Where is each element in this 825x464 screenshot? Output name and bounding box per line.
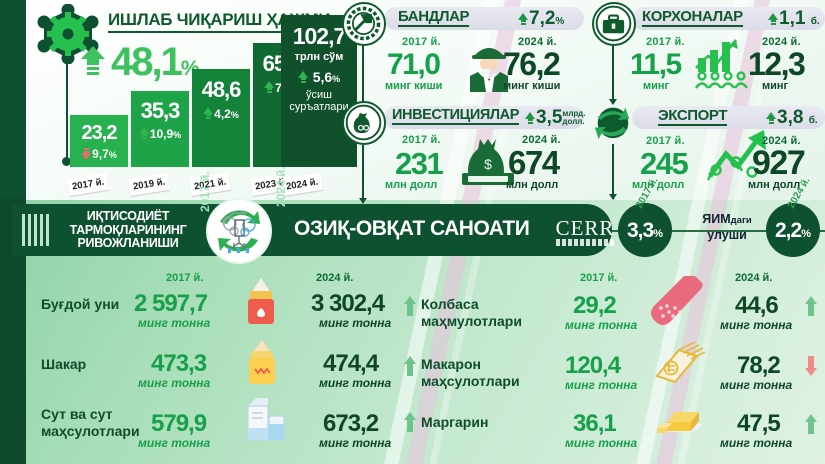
kpi-value-2017: 11,5 [630,48,681,82]
bar-2019: 35,3 10,9% [131,91,189,167]
banner-subtitle: ИҚТИСОДИЁТ ТАРМОҚЛАРИНИНГ РИВОЖЛАНИШИ [58,210,198,251]
money-bag-icon [342,101,386,145]
kpi-bandlar: БАНДЛАР 7,2% 2017 й. 71,0 минг киши 2024… [340,0,590,98]
arrow-up-icon [525,112,536,125]
pasta-pack-icon [649,336,707,393]
kpi-unit-2024: минг киши [503,80,560,92]
butter-icon [649,398,707,449]
cell-2024-value: 47,5 [737,410,780,438]
cell-2017-unit: минг тонна [138,436,210,450]
bar-year-2019: 2019 й. [128,173,170,196]
arrow-up-icon [768,13,779,26]
kpi-title: ИНВЕСТИЦИЯЛАР [392,107,519,125]
kpi-value-2024: 76,2 [503,46,559,83]
banner-year-right: 2024 й. [274,166,288,207]
bar-value: 48,6 [192,77,250,103]
cell-2017-value: 29,2 [573,292,616,320]
cell-2017-unit: минг тонна [138,376,210,390]
kpi-year-left: 2017 й. [402,134,441,146]
table-right: 2017 й. 2024 й. Колбаса маҳмулотлари 29,… [415,268,825,464]
section-banner: ИҚТИСОДИЁТ ТАРМОҚЛАРИНИНГ РИВОЖЛАНИШИ 20… [12,204,612,256]
cell-2017-unit: минг тонна [565,378,637,392]
cell-2017-unit: минг тонна [565,318,637,332]
kpi-title: БАНДЛАР [398,8,469,27]
col-header-2024: 2024 й. [735,272,772,284]
bar-growth: 4,2% [192,107,250,121]
connector-stem [612,46,614,104]
bar-year-2017: 2017 й. [67,173,109,196]
cell-2024-value: 3 302,4 [311,290,384,318]
trend-arrow-icon [805,414,817,439]
cell-2017-value: 36,1 [573,410,616,438]
kpi-korxonalar: КОРХОНАЛАР 1,1 б. 2017 й. 11,5 минг 2024… [590,0,825,98]
kpi-delta: 3,5млрд.долл. [525,107,585,129]
arrow-up-icon [298,71,309,84]
globe-arrows-icon [592,100,634,147]
milk-carton-icon [242,394,288,447]
cell-2017-value: 579,9 [151,410,206,438]
growth-number: 48,1 [111,40,181,84]
sausage-icon [647,276,707,333]
row-label: Шакар [41,356,151,373]
kpi-value-2017: 245 [640,146,687,182]
cell-2024-value: 44,6 [735,292,778,320]
growth-arrow-icon [81,46,105,76]
kpi-value-2024: 927 [752,144,804,183]
col-header-2017: 2017 й. [166,272,203,284]
bar-growth: 10,9% [131,127,189,141]
kpi-unit-2024: минг [762,80,788,92]
production-volume-panel: ИШЛАБ ЧИҚАРИШ ҲАЖМИ 48,1% 23,2 9,7% 2017… [26,0,340,197]
trend-arrow-icon [805,296,817,321]
kpi-delta: 3,8 б. [766,107,818,129]
kpi-delta: 1,1 б. [768,8,820,30]
kpi-unit-2017: минг [643,80,669,92]
cell-2017-value: 2 597,7 [134,290,207,318]
trend-arrow-icon [805,356,817,381]
row-label: Сут ва сут маҳсулотлари [41,406,153,440]
cell-2017-value: 473,3 [151,350,206,378]
cell-2024-value: 78,2 [737,352,780,380]
kpi-value-2024: 12,3 [748,46,804,83]
connector-stem [362,46,364,108]
cell-2024-unit: минг тонна [720,436,792,450]
arrow-up-icon [518,13,529,26]
cell-2024-value: 673,2 [323,410,378,438]
arrow-up-icon [766,112,777,125]
connector-stem [612,144,614,199]
row-label: Колбаса маҳмулотлари [421,296,551,330]
arrow-up-icon [139,127,150,140]
arrow-up-icon [264,81,275,94]
banner-lines-decor [22,214,52,246]
col-header-2017: 2017 й. [580,272,617,284]
kpi-value-2024: 674 [508,144,559,182]
kpi-title: КОРХОНАЛАР [642,8,743,27]
arrow-up-icon [203,107,214,120]
total-growth-value: 48,1% [111,40,198,85]
ai-brain-cycle-icon [208,200,270,262]
cell-2024-unit: минг тонна [319,316,391,330]
row-label: Макарон маҳсулотлари [421,356,551,390]
cell-2017-unit: минг тонна [565,436,637,450]
infographic-root: ИШЛАБ ЧИҚАРИШ ҲАЖМИ 48,1% 23,2 9,7% 2017… [0,0,825,464]
kpi-value-2017: 71,0 [387,48,439,82]
cerr-logo: CERR [552,218,618,246]
gdp-label: ЯИМдаги улуши [690,212,764,243]
bar-growth: 9,7% [70,147,128,161]
cell-2024-unit: минг тонна [720,318,792,332]
kpi-unit-2017: минг киши [385,80,442,92]
table-left: 2017 й. 2024 й. Буғдой уни 2 597,7 минг … [26,268,411,464]
gdp-value-2017: 3,3% [618,203,672,257]
bar-2021: 48,6 4,2% [192,69,250,167]
cerr-logo-caption [556,239,614,246]
kpi-eksport: ЭКСПОРТ 3,8 б. 2017 й. 245 млн долл 2024… [590,100,825,197]
connector-stem [66,62,68,160]
kpi-delta: 7,2% [518,8,564,30]
gdp-value-2024: 2,2% [766,203,820,257]
row-label: Маргарин [421,414,551,431]
cell-2024-unit: минг тонна [319,376,391,390]
sugar-sack-icon [244,338,280,393]
flour-sack-icon [241,276,281,333]
bar-2017: 23,2 9,7% [70,115,128,167]
banner-title: ОЗИҚ-ОВҚАТ САНОАТИ [294,217,529,241]
briefcase-icon [592,2,636,46]
hammer-gear-icon [342,2,386,46]
svg-text:$: $ [484,156,492,172]
growth-chart-people-icon [692,38,754,95]
connector-stem [362,145,364,203]
col-header-2024: 2024 й. [316,272,353,284]
cell-2017-value: 120,4 [565,352,620,380]
bar-value: 35,3 [131,98,189,124]
cell-2017-unit: минг тонна [138,316,210,330]
kpi-unit-2017: млн долл [385,179,437,191]
bar-value: 23,2 [70,122,128,145]
arrow-down-icon [81,147,92,160]
kpi-year-left: 2017 й. [646,36,685,48]
kpi-unit-2024: млн долл [506,179,558,191]
cerr-logo-text: CERR [552,218,618,238]
cell-2024-unit: минг тонна [720,378,792,392]
kpi-title: ЭКСПОРТ [658,107,727,126]
cell-2024-value: 474,4 [323,350,378,378]
cell-2024-unit: минг тонна [319,436,391,450]
kpi-unit-2024: млн долл [748,179,800,191]
kpi-year-left: 2017 й. [402,36,441,48]
kpi-investitsiyalar: ИНВЕСТИЦИЯЛАР 3,5млрд.долл. 2017 й. 231 … [340,100,590,197]
kpi-value-2017: 231 [395,146,442,182]
